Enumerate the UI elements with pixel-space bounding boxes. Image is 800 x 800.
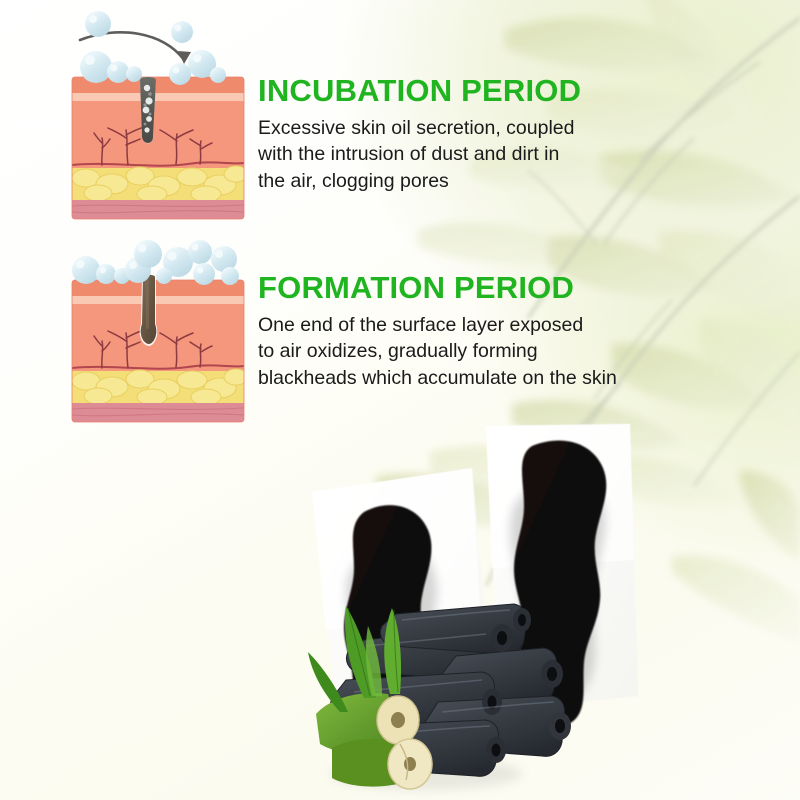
- skin-diagram-formation: [60, 232, 256, 428]
- skin-layers-2: [72, 280, 248, 422]
- formation-body-line-2: to air oxidizes, gradually forming: [258, 338, 703, 365]
- formation-heading: FORMATION PERIOD: [258, 272, 703, 305]
- oil-droplets-1: [80, 11, 226, 85]
- bamboo-stalks: [316, 693, 432, 789]
- blackhead-plug-2: [140, 274, 158, 346]
- infographic-page: INCUBATION PERIOD Excessive skin oil sec…: [0, 0, 800, 800]
- incubation-body-line-1: Excessive skin oil secretion, coupled: [258, 115, 678, 142]
- formation-body-line-3: blackheads which accumulate on the skin: [258, 365, 703, 392]
- formation-body: One end of the surface layer exposed to …: [258, 312, 703, 393]
- formation-body-line-1: One end of the surface layer exposed: [258, 312, 703, 339]
- section-formation-text: FORMATION PERIOD One end of the surface …: [258, 272, 703, 392]
- incubation-body: Excessive skin oil secretion, coupled wi…: [258, 115, 678, 196]
- section-incubation-text: INCUBATION PERIOD Excessive skin oil sec…: [258, 75, 678, 195]
- skin-layers-1: [72, 77, 248, 219]
- product-photo: [300, 410, 800, 800]
- incubation-body-line-2: with the intrusion of dust and dirt in: [258, 141, 678, 168]
- skin-diagram-incubation: [60, 2, 256, 226]
- incubation-body-line-3: the air, clogging pores: [258, 168, 678, 195]
- incubation-heading: INCUBATION PERIOD: [258, 75, 678, 108]
